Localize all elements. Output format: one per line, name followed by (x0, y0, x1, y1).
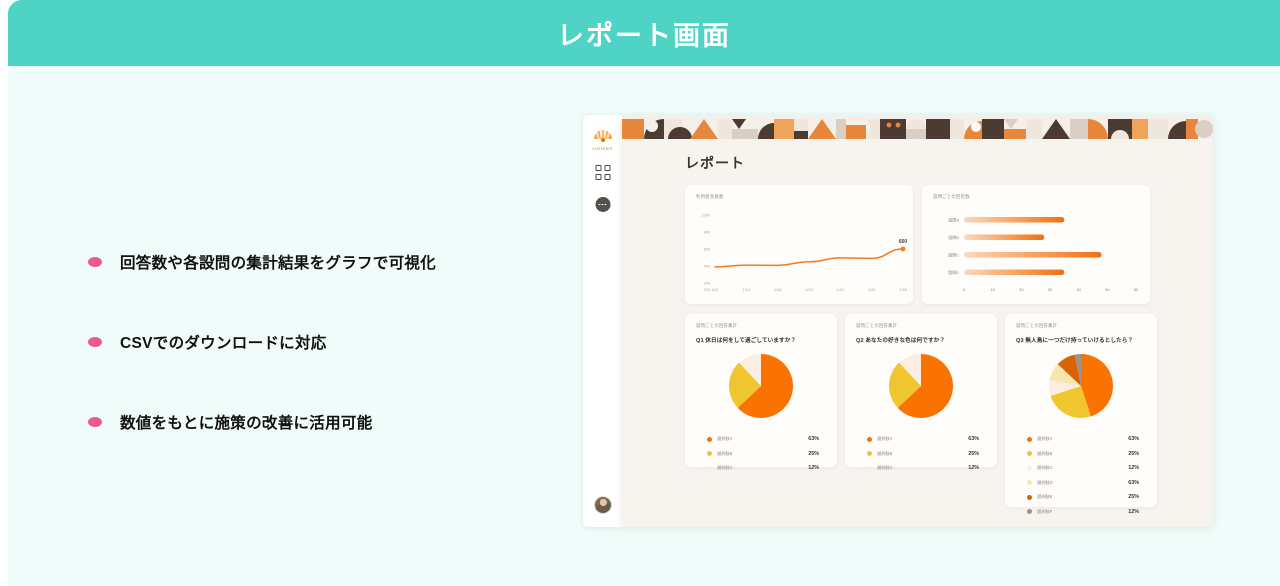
svg-text:30: 30 (1048, 287, 1053, 292)
pie-chart (685, 344, 837, 432)
legend-label: 選択肢B (717, 451, 808, 457)
legend-label: 選択肢F (1037, 509, 1128, 515)
legend-item: 選択肢A63% (867, 436, 979, 442)
legend-label: 選択肢A (877, 436, 968, 442)
legend-item: 選択肢A63% (707, 436, 819, 442)
svg-text:10: 10 (990, 287, 995, 292)
legend-color-swatch (707, 437, 712, 442)
header-banner: レポート画面 (8, 0, 1280, 66)
svg-text:設問D: 設問D (948, 269, 959, 275)
legend-label: 選択肢B (877, 451, 968, 457)
card-title: 設問ごとの回答数 (933, 194, 970, 200)
svg-text:1/21: 1/21 (837, 288, 844, 292)
dashboard-page-title: レポート (685, 153, 745, 173)
svg-text:50: 50 (1105, 287, 1110, 292)
pie-chart-card-q2: 設問ごとの回答集計 Q2 あなたの好きな色は何ですか？ 選択肢A63%選択肢B2… (845, 314, 997, 467)
line-chart-card: 利用者会員数 2004006008001000 2001/111/141/161… (685, 185, 913, 304)
line-chart: 2004006008001000 2001/111/141/161/181/21… (685, 185, 913, 304)
legend-value: 12% (1128, 465, 1139, 471)
bullet-dot-icon (88, 337, 102, 347)
legend-value: 25% (808, 451, 819, 457)
svg-text:設問C: 設問C (948, 251, 959, 257)
page-title: レポート画面 (557, 14, 731, 53)
legend-value: 25% (1128, 494, 1139, 500)
legend-item: 選択肢B25% (1027, 451, 1139, 457)
svg-text:1/11: 1/11 (711, 288, 718, 292)
bullet-label: 数値をもとに施策の改善に活用可能 (120, 411, 373, 433)
card-title: 設問ごとの回答集計 (856, 323, 897, 329)
svg-text:20: 20 (1019, 287, 1024, 292)
bullet-label: CSVでのダウンロードに対応 (120, 331, 327, 353)
legend-label: 選択肢B (1037, 451, 1128, 457)
legend-value: 63% (968, 436, 979, 442)
legend-value: 25% (1128, 451, 1139, 457)
svg-text:200: 200 (704, 288, 710, 292)
svg-text:1/14: 1/14 (743, 288, 750, 292)
brand-name: croissant (583, 146, 622, 151)
pie-chart-card-q3: 設問ごとの回答集計 Q3 無人島に一つだけ持っていけるとしたら？ 選択肢A63%… (1005, 314, 1157, 507)
legend-item: 選択肢A63% (1027, 436, 1139, 442)
legend-value: 12% (968, 465, 979, 471)
legend-value: 63% (1128, 480, 1139, 486)
question-label: Q3 無人島に一つだけ持っていけるとしたら？ (1016, 336, 1133, 344)
svg-text:設問B: 設問B (948, 234, 959, 240)
avatar[interactable] (594, 496, 612, 514)
svg-text:60: 60 (1134, 287, 1139, 292)
svg-text:600: 600 (704, 247, 710, 251)
feature-bullet-list: 回答数や各設問の集計結果をグラフで可視化 CSVでのダウンロードに対応 数値をも… (88, 222, 518, 462)
croissant-logo-icon (592, 124, 614, 146)
bullet-dot-icon (88, 257, 102, 267)
more-icon[interactable] (595, 197, 610, 212)
svg-text:1000: 1000 (702, 213, 710, 217)
legend-color-swatch (1027, 509, 1032, 514)
legend-label: 選択肢A (1037, 436, 1128, 442)
bar-chart-card: 設問ごとの回答数 設問A設問B設問C設問D 0102030405060 (922, 185, 1150, 304)
dashboard-mockup: croissant (583, 115, 1213, 527)
svg-text:40: 40 (1076, 287, 1081, 292)
legend-value: 63% (808, 436, 819, 442)
legend-color-swatch (867, 437, 872, 442)
pie-chart (1005, 344, 1157, 432)
legend-value: 12% (808, 465, 819, 471)
legend-color-swatch (1027, 451, 1032, 456)
legend-item: 選択肢D63% (1027, 480, 1139, 486)
card-title: 設問ごとの回答集計 (696, 323, 737, 329)
legend-item: 選択肢C12% (1027, 465, 1139, 471)
svg-text:800: 800 (704, 230, 710, 234)
svg-text:1/28: 1/28 (899, 288, 906, 292)
legend-label: 選択肢C (877, 465, 968, 471)
legend-label: 選択肢A (717, 436, 808, 442)
legend-label: 選択肢D (1037, 480, 1128, 486)
legend-item: 選択肢B25% (867, 451, 979, 457)
svg-text:0: 0 (963, 287, 966, 292)
svg-text:1/18: 1/18 (805, 288, 812, 292)
card-title: 設問ごとの回答集計 (1016, 323, 1057, 329)
pie-chart-card-q1: 設問ごとの回答集計 Q1 休日は何をして過ごしていますか？ 選択肢A63%選択肢… (685, 314, 837, 467)
decorative-banner (622, 115, 1213, 139)
legend-item: 選択肢B25% (707, 451, 819, 457)
svg-text:1/16: 1/16 (774, 288, 781, 292)
question-label: Q1 休日は何をして過ごしていますか？ (696, 336, 796, 344)
line-endpoint-marker (901, 247, 906, 252)
legend-item: 選択肢C12% (707, 465, 819, 471)
legend-item: 選択肢E25% (1027, 494, 1139, 500)
svg-text:200: 200 (704, 281, 710, 285)
pie-chart (845, 344, 997, 432)
bar-chart: 設問A設問B設問C設問D 0102030405060 (922, 185, 1150, 304)
legend-color-swatch (707, 466, 712, 471)
dashboard-main: レポート 利用者会員数 2004006008001000 2001/111/14… (622, 115, 1213, 527)
svg-text:設問A: 設問A (948, 216, 959, 222)
bullet-dot-icon (88, 417, 102, 427)
legend-color-swatch (867, 466, 872, 471)
legend-label: 選択肢C (717, 465, 808, 471)
svg-text:1/24: 1/24 (868, 288, 875, 292)
svg-text:400: 400 (704, 264, 710, 268)
legend-color-swatch (1027, 480, 1032, 485)
grid-icon[interactable] (595, 165, 610, 180)
legend-color-swatch (1027, 437, 1032, 442)
list-item: 回答数や各設問の集計結果をグラフで可視化 (88, 222, 518, 302)
legend-value: 12% (1128, 509, 1139, 515)
question-label: Q2 あなたの好きな色は何ですか？ (856, 336, 945, 344)
line-endpoint-label: 600 (899, 239, 908, 245)
legend-color-swatch (1027, 466, 1032, 471)
legend-label: 選択肢C (1037, 465, 1128, 471)
legend-color-swatch (707, 451, 712, 456)
list-item: CSVでのダウンロードに対応 (88, 302, 518, 382)
legend-color-swatch (1027, 495, 1032, 500)
legend-label: 選択肢E (1037, 494, 1128, 500)
legend-value: 63% (1128, 436, 1139, 442)
legend-value: 25% (968, 451, 979, 457)
legend-item: 選択肢C12% (867, 465, 979, 471)
legend-item: 選択肢F12% (1027, 509, 1139, 515)
bullet-label: 回答数や各設問の集計結果をグラフで可視化 (120, 251, 436, 273)
legend-color-swatch (867, 451, 872, 456)
list-item: 数値をもとに施策の改善に活用可能 (88, 382, 518, 462)
dashboard-sidebar: croissant (583, 115, 622, 527)
